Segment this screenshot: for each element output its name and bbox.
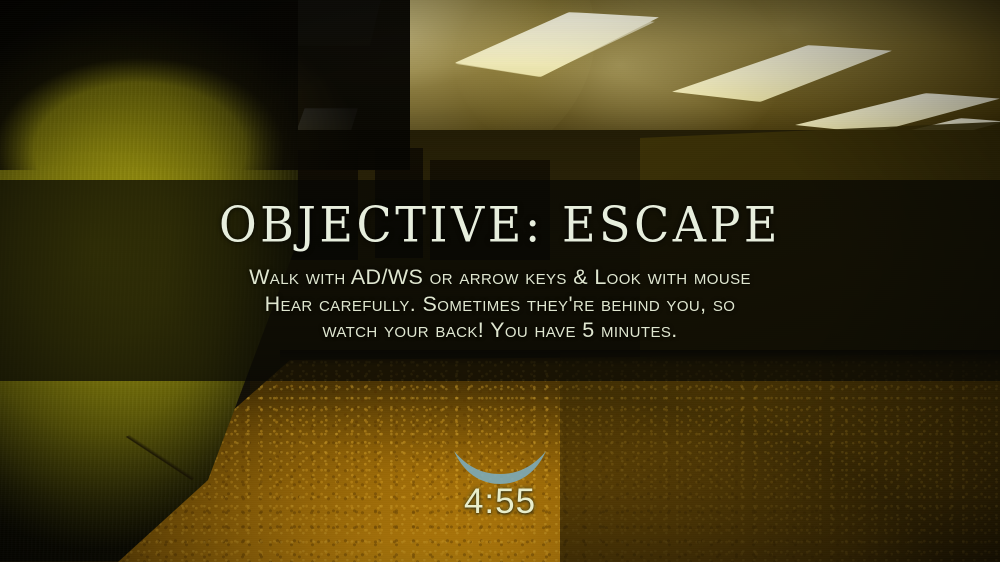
floor-wall-junction (280, 350, 1000, 366)
left-wall-top-shadow (0, 0, 410, 170)
floor-shadow-right (560, 352, 1000, 562)
corridor-opening (430, 160, 550, 260)
game-screen: OBJECTIVE: ESCAPE Walk with AD/WS or arr… (0, 0, 1000, 562)
